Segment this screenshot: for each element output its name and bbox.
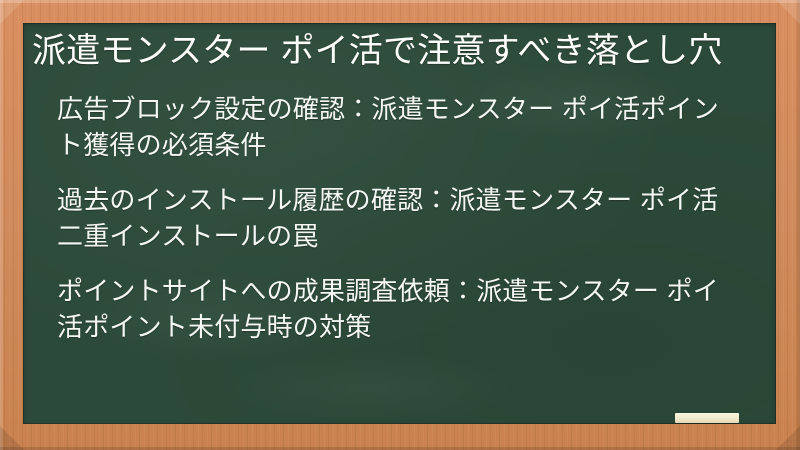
board-content: 派遣モンスター ポイ活で注意すべき落とし穴 広告ブロック設定の確認：派遣モンスタ… <box>23 23 776 424</box>
slide-title: 派遣モンスター ポイ活で注意すべき落とし穴 <box>32 31 732 72</box>
list-item: ポイントサイトへの成果調査依頼：派遣モンスター ポイ活ポイント未付与時の対策 <box>32 273 744 345</box>
chalkboard-slide: 派遣モンスター ポイ活で注意すべき落とし穴 広告ブロック設定の確認：派遣モンスタ… <box>0 0 800 450</box>
topic-list: 広告ブロック設定の確認：派遣モンスター ポイ活ポイント獲得の必須条件 過去のイン… <box>32 91 744 345</box>
list-item: 過去のインストール履歴の確認：派遣モンスター ポイ活二重インストールの罠 <box>32 182 744 254</box>
frame-miter-top-left <box>0 0 24 24</box>
chalk-stick-icon <box>675 413 739 423</box>
frame-top-highlight <box>0 0 800 3</box>
list-item: 広告ブロック設定の確認：派遣モンスター ポイ活ポイント獲得の必須条件 <box>32 91 744 163</box>
frame-left-highlight <box>0 0 3 450</box>
chalkboard-surface: 派遣モンスター ポイ活で注意すべき落とし穴 広告ブロック設定の確認：派遣モンスタ… <box>23 23 776 424</box>
